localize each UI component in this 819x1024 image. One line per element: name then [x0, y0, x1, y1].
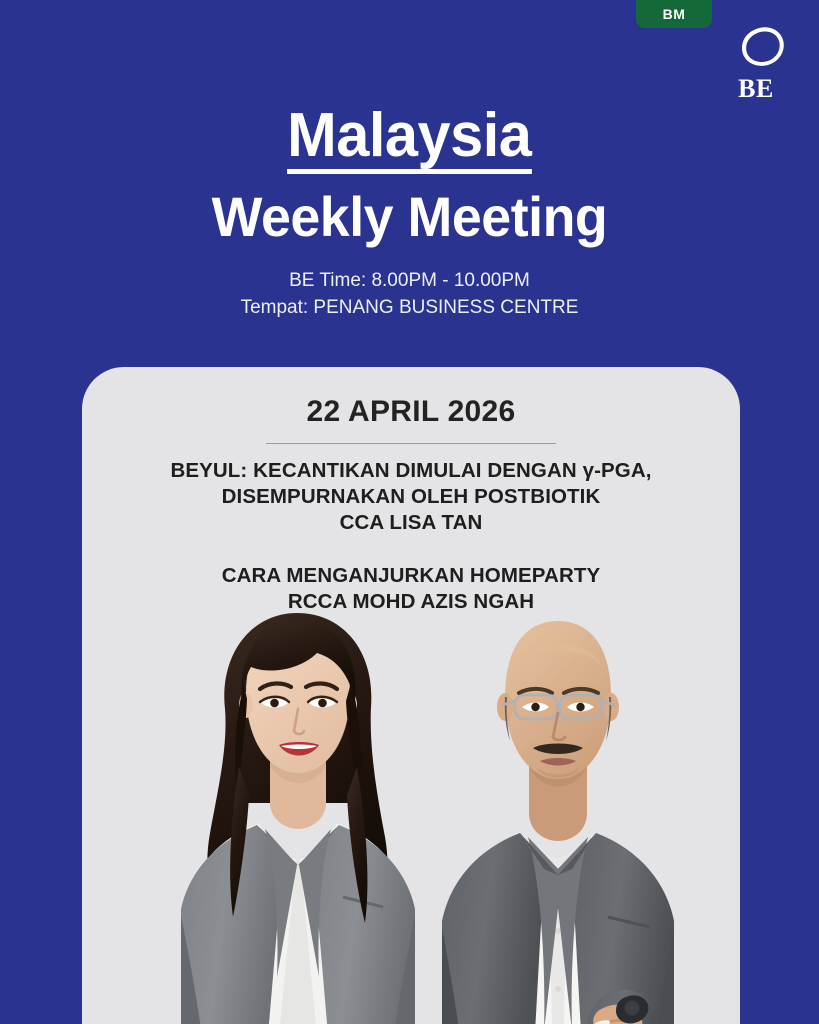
speaker-photo-mohd-azis-ngah — [412, 601, 702, 1024]
event-venue: Tempat: PENANG BUSINESS CENTRE — [0, 295, 819, 322]
speaker-photo-lisa-tan — [147, 597, 447, 1024]
agenda-topic-1: BEYUL: KECANTIKAN DIMULAI DENGAN γ-PGA, … — [82, 458, 740, 537]
agenda-card: 22 APRIL 2026 BEYUL: KECANTIKAN DIMULAI … — [82, 367, 740, 1024]
event-date: 22 APRIL 2026 — [82, 395, 740, 429]
poster-canvas: BM BE Malaysia Weekly Meeting BE Time: 8… — [0, 0, 819, 1024]
agenda-topic-1-speaker: CCA LISA TAN — [82, 510, 740, 536]
agenda-topic-2-line-1: CARA MENGANJURKAN HOMEPARTY — [82, 563, 740, 589]
language-badge-label: BM — [663, 6, 686, 22]
be-logo-text: BE — [727, 76, 785, 102]
date-divider — [266, 443, 556, 444]
agenda-topic-1-line-2: DISEMPURNAKAN OLEH POSTBIOTIK — [82, 484, 740, 510]
page-title: Malaysia — [287, 104, 531, 174]
event-info: BE Time: 8.00PM - 10.00PM Tempat: PENANG… — [0, 268, 819, 322]
language-badge[interactable]: BM — [636, 0, 712, 28]
page-subtitle: Weekly Meeting — [16, 188, 802, 245]
poster-heading: Malaysia Weekly Meeting — [0, 104, 819, 245]
event-time: BE Time: 8.00PM - 10.00PM — [0, 268, 819, 295]
speaker-photos — [82, 597, 740, 1024]
agenda-topic-1-line-1: BEYUL: KECANTIKAN DIMULAI DENGAN γ-PGA, — [82, 458, 740, 484]
open-circle-icon — [727, 22, 809, 82]
be-logo: BE — [727, 22, 809, 104]
